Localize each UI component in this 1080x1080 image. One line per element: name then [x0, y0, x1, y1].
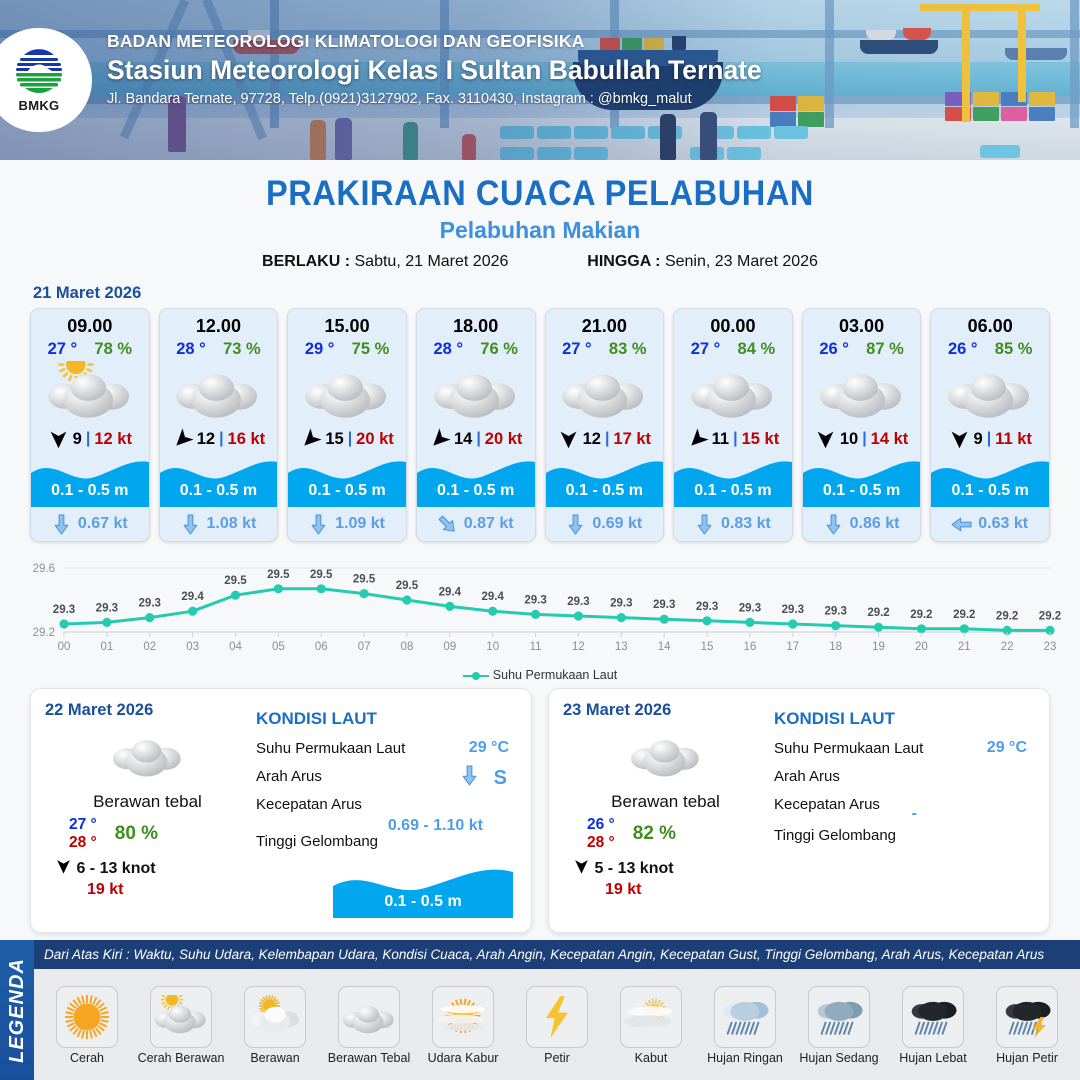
station-name: Stasiun Meteorologi Kelas I Sultan Babul… — [107, 55, 762, 86]
card-current: 0.69 kt — [546, 507, 664, 541]
svg-text:21: 21 — [958, 641, 971, 653]
card-wind-separator: | — [86, 430, 90, 448]
card-temperature: 29 ° — [305, 340, 335, 359]
cloudy-thick-icon — [563, 724, 768, 786]
sea-current-dir-value: S — [494, 767, 507, 790]
legend-item: Hujan Ringan — [699, 986, 791, 1065]
card-temp-humidity: 26 ° 87 % — [803, 338, 921, 359]
validity-row: BERLAKU : Sabtu, 21 Maret 2026 HINGGA : … — [0, 253, 1080, 271]
forecast-card[interactable]: 18.00 28 ° 76 % 14 | 20 kt 0.1 - 0.5 m — [416, 308, 536, 542]
card-wind-speed: 9 — [73, 430, 82, 449]
chart-legend-marker — [463, 675, 489, 677]
cloudy-icon — [674, 361, 792, 423]
svg-text:00: 00 — [58, 641, 71, 653]
legend-item: Hujan Petir — [981, 986, 1073, 1065]
legend-item-label: Cerah Berawan — [138, 1051, 225, 1065]
sea-wave-badge: 0.1 - 0.5 m — [333, 864, 513, 918]
card-current: 1.08 kt — [160, 507, 278, 541]
summary-tmax: 28 ° — [69, 834, 97, 852]
forecast-card[interactable]: 03.00 26 ° 87 % 10 | 14 kt 0.1 - 0.5 m — [802, 308, 922, 542]
sea-sst-value: 29 °C — [469, 739, 509, 757]
card-temperature: 26 ° — [819, 340, 849, 359]
card-wind-separator: | — [862, 430, 866, 448]
sst-chart-svg: 29.629.229.30029.30129.30229.40329.50429… — [12, 554, 1068, 666]
card-wind-speed: 10 — [840, 430, 858, 449]
light-rain-icon — [714, 986, 776, 1048]
partly-cloudy-icon — [31, 361, 149, 423]
svg-text:29.3: 29.3 — [53, 604, 75, 616]
legend-item-label: Kabut — [635, 1051, 668, 1065]
sea-condition-title: KONDISI LAUT — [774, 709, 1035, 729]
sea-row-wave: Tinggi Gelombang — [774, 827, 1035, 844]
summary-date: 22 Maret 2026 — [45, 701, 250, 720]
card-wind: 14 | 20 kt — [417, 423, 535, 455]
card-wave: 0.1 - 0.5 m — [546, 455, 664, 507]
svg-text:10: 10 — [486, 641, 499, 653]
cloudy-icon — [160, 361, 278, 423]
summary-left: 22 Maret 2026 Berawan tebal 27 ° 28 ° 80… — [45, 701, 250, 920]
svg-text:29.4: 29.4 — [439, 586, 462, 598]
summary-temps: 27 ° 28 ° 80 % — [45, 816, 250, 852]
bmkg-logo-text: BMKG — [19, 98, 60, 113]
svg-text:15: 15 — [701, 641, 714, 653]
svg-text:18: 18 — [829, 641, 842, 653]
card-temperature: 28 ° — [176, 340, 206, 359]
card-wave: 0.1 - 0.5 m — [674, 455, 792, 507]
card-wind-separator: | — [476, 430, 480, 448]
card-current-speed: 0.69 kt — [592, 515, 642, 533]
card-wind-speed: 14 — [454, 430, 472, 449]
summary-tmin: 27 ° — [69, 816, 97, 834]
card-wind: 11 | 15 kt — [674, 423, 792, 455]
svg-text:12: 12 — [572, 641, 585, 653]
card-time: 18.00 — [417, 309, 535, 338]
summary-date: 23 Maret 2026 — [563, 701, 768, 720]
page-header: BMKG BADAN METEOROLOGI KLIMATOLOGI DAN G… — [0, 0, 1080, 160]
card-wave: 0.1 - 0.5 m — [288, 455, 406, 507]
cloudy-thick-icon — [45, 724, 250, 786]
svg-text:29.2: 29.2 — [1039, 610, 1061, 622]
cloudy-icon — [546, 361, 664, 423]
svg-text:29.2: 29.2 — [867, 607, 889, 619]
legend-item: Udara Kabur — [417, 986, 509, 1065]
cloud-sun-icon — [244, 986, 306, 1048]
svg-text:29.3: 29.3 — [139, 598, 161, 610]
svg-text:09: 09 — [443, 641, 456, 653]
card-wind-speed: 11 — [712, 430, 729, 449]
svg-text:29.2: 29.2 — [953, 609, 975, 621]
sea-wave-value: 0.1 - 0.5 m — [333, 893, 513, 911]
current-direction-icon — [951, 515, 972, 534]
legend-item: Cerah Berawan — [135, 986, 227, 1065]
card-wind: 15 | 20 kt — [288, 423, 406, 455]
card-wind: 9 | 11 kt — [931, 423, 1049, 455]
card-humidity: 85 % — [995, 340, 1033, 359]
svg-text:29.3: 29.3 — [782, 604, 804, 616]
card-wind-separator: | — [348, 430, 352, 448]
legend-item-label: Hujan Petir — [996, 1051, 1058, 1065]
legend-item-label: Udara Kabur — [428, 1051, 499, 1065]
legenda-side-label: LEGENDA — [6, 958, 29, 1063]
card-wind-separator: | — [219, 430, 223, 448]
valid-from-value: Sabtu, 21 Maret 2026 — [355, 253, 509, 270]
current-direction-icon — [824, 514, 843, 535]
wind-direction-icon — [815, 429, 836, 450]
sst-chart: 29.629.229.30029.30129.30229.40329.50429… — [12, 554, 1068, 666]
card-humidity: 84 % — [738, 340, 776, 359]
card-current-speed: 0.63 kt — [978, 515, 1028, 533]
agency-name: BADAN METEOROLOGI KLIMATOLOGI DAN GEOFIS… — [107, 31, 762, 52]
wind-direction-icon — [296, 424, 326, 454]
card-wave-height: 0.1 - 0.5 m — [803, 482, 921, 500]
card-wave-height: 0.1 - 0.5 m — [546, 482, 664, 500]
card-wave-height: 0.1 - 0.5 m — [31, 482, 149, 500]
summary-gust: 19 kt — [563, 881, 768, 899]
card-gust: 15 kt — [742, 430, 780, 449]
forecast-card[interactable]: 06.00 26 ° 85 % 9 | 11 kt 0.1 - 0.5 m — [930, 308, 1050, 542]
card-current: 0.67 kt — [31, 507, 149, 541]
card-wind: 10 | 14 kt — [803, 423, 921, 455]
lightning-icon — [526, 986, 588, 1048]
card-time: 15.00 — [288, 309, 406, 338]
current-direction-icon — [566, 514, 585, 535]
forecast-card[interactable]: 00.00 27 ° 84 % 11 | 15 kt 0.1 - 0.5 m — [673, 308, 793, 542]
svg-text:29.5: 29.5 — [353, 574, 376, 586]
legend-item-label: Petir — [544, 1051, 570, 1065]
chart-legend-label: Suhu Permukaan Laut — [493, 668, 617, 682]
svg-text:29.6: 29.6 — [33, 563, 55, 575]
card-wind-separator: | — [605, 430, 609, 448]
header-text-block: BADAN METEOROLOGI KLIMATOLOGI DAN GEOFIS… — [107, 31, 762, 107]
wind-direction-icon — [167, 424, 197, 454]
sea-row-current-dir: Arah Arus — [774, 768, 1035, 785]
card-wave-height: 0.1 - 0.5 m — [288, 482, 406, 500]
legend-item: Berawan Tebal — [323, 986, 415, 1065]
title-block: PRAKIRAAN CUACA PELABUHAN Pelabuhan Maki… — [0, 174, 1080, 271]
page-subtitle: Pelabuhan Makian — [0, 217, 1080, 244]
svg-text:29.3: 29.3 — [524, 594, 546, 606]
current-direction-icon — [52, 514, 71, 535]
card-wave: 0.1 - 0.5 m — [803, 455, 921, 507]
clouds-icon — [338, 986, 400, 1048]
svg-text:14: 14 — [658, 641, 671, 653]
sea-row-wave: Tinggi Gelombang — [256, 833, 517, 850]
card-temp-humidity: 27 ° 83 % — [546, 338, 664, 359]
svg-text:02: 02 — [143, 641, 156, 653]
valid-until-value: Senin, 23 Maret 2026 — [665, 253, 818, 270]
card-wind-separator: | — [733, 430, 737, 448]
svg-text:29.2: 29.2 — [996, 610, 1018, 622]
legend-item-label: Cerah — [70, 1051, 104, 1065]
legenda-section: LEGENDA Dari Atas Kiri : Waktu, Suhu Uda… — [0, 940, 1080, 1080]
svg-text:03: 03 — [186, 641, 199, 653]
svg-text:17: 17 — [786, 641, 799, 653]
svg-text:29.3: 29.3 — [653, 599, 675, 611]
card-current-speed: 1.09 kt — [335, 515, 385, 533]
legenda-note: Dari Atas Kiri : Waktu, Suhu Udara, Kele… — [34, 940, 1080, 969]
forecast-card[interactable]: 15.00 29 ° 75 % 15 | 20 kt 0.1 - 0.5 m — [287, 308, 407, 542]
card-wave-height: 0.1 - 0.5 m — [931, 482, 1049, 500]
summary-tmin: 26 ° — [587, 816, 615, 834]
card-gust: 16 kt — [228, 430, 266, 449]
card-humidity: 83 % — [609, 340, 647, 359]
thunderstorm-icon — [996, 986, 1058, 1048]
wind-direction-icon — [48, 429, 69, 450]
svg-text:29.2: 29.2 — [910, 609, 932, 621]
svg-text:07: 07 — [358, 641, 371, 653]
card-temp-humidity: 27 ° 78 % — [31, 338, 149, 359]
card-temperature: 28 ° — [433, 340, 463, 359]
svg-text:11: 11 — [530, 641, 542, 653]
summary-temps: 26 ° 28 ° 82 % — [563, 816, 768, 852]
legend-item-label: Hujan Ringan — [707, 1051, 783, 1065]
card-wave-height: 0.1 - 0.5 m — [417, 482, 535, 500]
card-wind: 9 | 12 kt — [31, 423, 149, 455]
legenda-side-tab: LEGENDA — [0, 940, 34, 1080]
card-wave: 0.1 - 0.5 m — [931, 455, 1049, 507]
svg-text:22: 22 — [1001, 641, 1014, 653]
svg-text:06: 06 — [315, 641, 328, 653]
sun-cloud-icon — [150, 986, 212, 1048]
summary-wind: 6 - 13 knot — [45, 858, 250, 878]
card-wind-speed: 12 — [583, 430, 601, 449]
summary-condition: Berawan tebal — [563, 792, 768, 812]
card-current-speed: 0.67 kt — [78, 515, 128, 533]
current-direction-icon — [433, 510, 461, 538]
card-humidity: 76 % — [480, 340, 518, 359]
card-current-speed: 0.87 kt — [464, 515, 514, 533]
card-gust: 20 kt — [485, 430, 523, 449]
card-time: 12.00 — [160, 309, 278, 338]
card-gust: 11 kt — [995, 430, 1032, 449]
svg-text:19: 19 — [872, 641, 885, 653]
card-wave-height: 0.1 - 0.5 m — [160, 482, 278, 500]
sea-current-speed-value: 0.69 - 1.10 kt — [388, 817, 483, 835]
cloudy-icon — [931, 361, 1049, 423]
current-direction-icon — [695, 514, 714, 535]
svg-text:29.5: 29.5 — [310, 569, 333, 581]
svg-text:29.3: 29.3 — [567, 596, 589, 608]
summary-sea: KONDISI LAUT Suhu Permukaan Laut Arah Ar… — [250, 701, 517, 920]
svg-text:08: 08 — [401, 641, 414, 653]
forecast-card[interactable]: 21.00 27 ° 83 % 12 | 17 kt 0.1 - 0.5 m — [545, 308, 665, 542]
legend-item: Hujan Lebat — [887, 986, 979, 1065]
card-temperature: 27 ° — [691, 340, 721, 359]
svg-text:29.3: 29.3 — [610, 598, 632, 610]
card-temp-humidity: 28 ° 73 % — [160, 338, 278, 359]
forecast-card[interactable]: 09.00 27 ° 78 % 9 | 12 kt 0.1 - 0.5 m — [30, 308, 150, 542]
summary-condition: Berawan tebal — [45, 792, 250, 812]
legend-item-label: Hujan Lebat — [899, 1051, 966, 1065]
card-temp-humidity: 28 ° 76 % — [417, 338, 535, 359]
svg-text:29.5: 29.5 — [267, 569, 290, 581]
legend-item-label: Berawan Tebal — [328, 1051, 410, 1065]
card-temp-humidity: 26 ° 85 % — [931, 338, 1049, 359]
card-temperature: 27 ° — [562, 340, 592, 359]
fog-icon — [620, 986, 682, 1048]
card-gust: 12 kt — [94, 430, 132, 449]
legend-item: Cerah — [41, 986, 133, 1065]
svg-text:29.3: 29.3 — [96, 602, 118, 614]
station-contact: Jl. Bandara Ternate, 97728, Telp.(0921)3… — [107, 91, 762, 107]
svg-text:20: 20 — [915, 641, 928, 653]
card-current-speed: 1.08 kt — [207, 515, 257, 533]
card-time: 00.00 — [674, 309, 792, 338]
card-wave-height: 0.1 - 0.5 m — [674, 482, 792, 500]
cloudy-icon — [288, 361, 406, 423]
svg-text:29.2: 29.2 — [33, 627, 55, 639]
page-title: PRAKIRAAN CUACA PELABUHAN — [38, 174, 1042, 214]
valid-from-label: BERLAKU : — [262, 253, 350, 270]
card-wave: 0.1 - 0.5 m — [31, 455, 149, 507]
legend-item: Petir — [511, 986, 603, 1065]
card-temp-humidity: 27 ° 84 % — [674, 338, 792, 359]
sea-sst-value: 29 °C — [987, 739, 1027, 757]
bmkg-logo-mark — [11, 47, 67, 97]
moderate-rain-icon — [808, 986, 870, 1048]
legenda-main: Dari Atas Kiri : Waktu, Suhu Udara, Kele… — [34, 940, 1080, 1080]
current-direction-icon — [181, 514, 200, 535]
sea-current-arrow — [460, 765, 479, 791]
card-time: 21.00 — [546, 309, 664, 338]
forecast-date: 21 Maret 2026 — [33, 284, 1080, 303]
card-wind-speed: 15 — [325, 430, 343, 449]
svg-text:29.3: 29.3 — [696, 601, 718, 613]
svg-text:04: 04 — [229, 641, 242, 653]
card-current: 0.83 kt — [674, 507, 792, 541]
card-gust: 20 kt — [356, 430, 394, 449]
forecast-card[interactable]: 12.00 28 ° 73 % 12 | 16 kt 0.1 - 0.5 m — [159, 308, 279, 542]
card-temperature: 27 ° — [48, 340, 78, 359]
svg-text:05: 05 — [272, 641, 285, 653]
sea-row-current-speed: Kecepatan Arus — [774, 796, 1035, 813]
cloudy-icon — [417, 361, 535, 423]
valid-until-label: HINGGA : — [587, 253, 660, 270]
card-current: 0.86 kt — [803, 507, 921, 541]
card-wind-speed: 9 — [974, 430, 983, 449]
card-current: 0.87 kt — [417, 507, 535, 541]
summary-gust: 19 kt — [45, 881, 250, 899]
sea-row-current-speed: Kecepatan Arus — [256, 796, 517, 813]
sun-icon — [56, 986, 118, 1048]
summary-wind: 5 - 13 knot — [563, 858, 768, 878]
card-time: 03.00 — [803, 309, 921, 338]
summary-humidity: 80 % — [115, 823, 158, 845]
svg-text:23: 23 — [1044, 641, 1057, 653]
legend-item: Hujan Sedang — [793, 986, 885, 1065]
sea-current-speed-value: - — [912, 805, 917, 823]
current-direction-icon — [460, 765, 479, 786]
sea-condition-title: KONDISI LAUT — [256, 709, 517, 729]
card-time: 06.00 — [931, 309, 1049, 338]
daily-summary-panels: 22 Maret 2026 Berawan tebal 27 ° 28 ° 80… — [0, 682, 1080, 933]
haze-icon — [432, 986, 494, 1048]
current-direction-icon — [309, 514, 328, 535]
card-gust: 17 kt — [613, 430, 651, 449]
svg-text:29.4: 29.4 — [181, 591, 204, 603]
card-wind: 12 | 16 kt — [160, 423, 278, 455]
summary-tmax: 28 ° — [587, 834, 615, 852]
summary-left: 23 Maret 2026 Berawan tebal 26 ° 28 ° 82… — [563, 701, 768, 920]
card-temp-humidity: 29 ° 75 % — [288, 338, 406, 359]
svg-text:16: 16 — [744, 641, 757, 653]
card-gust: 14 kt — [871, 430, 909, 449]
legend-item-label: Hujan Sedang — [799, 1051, 878, 1065]
svg-text:29.4: 29.4 — [482, 591, 505, 603]
daily-summary-panel: 23 Maret 2026 Berawan tebal 26 ° 28 ° 82… — [548, 688, 1050, 933]
wind-direction-icon — [682, 424, 712, 454]
card-wind-speed: 12 — [197, 430, 215, 449]
card-current: 1.09 kt — [288, 507, 406, 541]
card-current: 0.63 kt — [931, 507, 1049, 541]
card-humidity: 73 % — [223, 340, 261, 359]
svg-text:01: 01 — [100, 641, 113, 653]
card-humidity: 75 % — [352, 340, 390, 359]
legend-item-label: Berawan — [250, 1051, 299, 1065]
card-wind-separator: | — [987, 430, 991, 448]
svg-text:29.5: 29.5 — [224, 575, 247, 587]
card-current-speed: 0.86 kt — [850, 515, 900, 533]
svg-text:29.3: 29.3 — [739, 602, 761, 614]
card-temperature: 26 ° — [948, 340, 978, 359]
daily-summary-panel: 22 Maret 2026 Berawan tebal 27 ° 28 ° 80… — [30, 688, 532, 933]
wind-direction-icon — [425, 424, 455, 454]
svg-text:29.3: 29.3 — [824, 606, 846, 618]
svg-text:29.5: 29.5 — [396, 580, 419, 592]
wind-direction-icon — [573, 858, 590, 875]
legend-item: Berawan — [229, 986, 321, 1065]
card-time: 09.00 — [31, 309, 149, 338]
legend-item: Kabut — [605, 986, 697, 1065]
card-wave: 0.1 - 0.5 m — [160, 455, 278, 507]
card-humidity: 87 % — [866, 340, 904, 359]
chart-legend: Suhu Permukaan Laut — [0, 668, 1080, 682]
card-humidity: 78 % — [94, 340, 132, 359]
card-wave: 0.1 - 0.5 m — [417, 455, 535, 507]
summary-humidity: 82 % — [633, 823, 676, 845]
legenda-item-list: Cerah Cerah Berawan Berawan Berawa — [34, 969, 1080, 1080]
card-wind: 12 | 17 kt — [546, 423, 664, 455]
wind-direction-icon — [55, 858, 72, 875]
wind-direction-icon — [558, 429, 579, 450]
card-current-speed: 0.83 kt — [721, 515, 771, 533]
summary-sea: KONDISI LAUT Suhu Permukaan Laut Arah Ar… — [768, 701, 1035, 920]
heavy-rain-icon — [902, 986, 964, 1048]
svg-text:13: 13 — [615, 641, 628, 653]
cloudy-icon — [803, 361, 921, 423]
forecast-card-list: 09.00 27 ° 78 % 9 | 12 kt 0.1 - 0.5 m — [0, 308, 1080, 542]
wind-direction-icon — [949, 429, 970, 450]
